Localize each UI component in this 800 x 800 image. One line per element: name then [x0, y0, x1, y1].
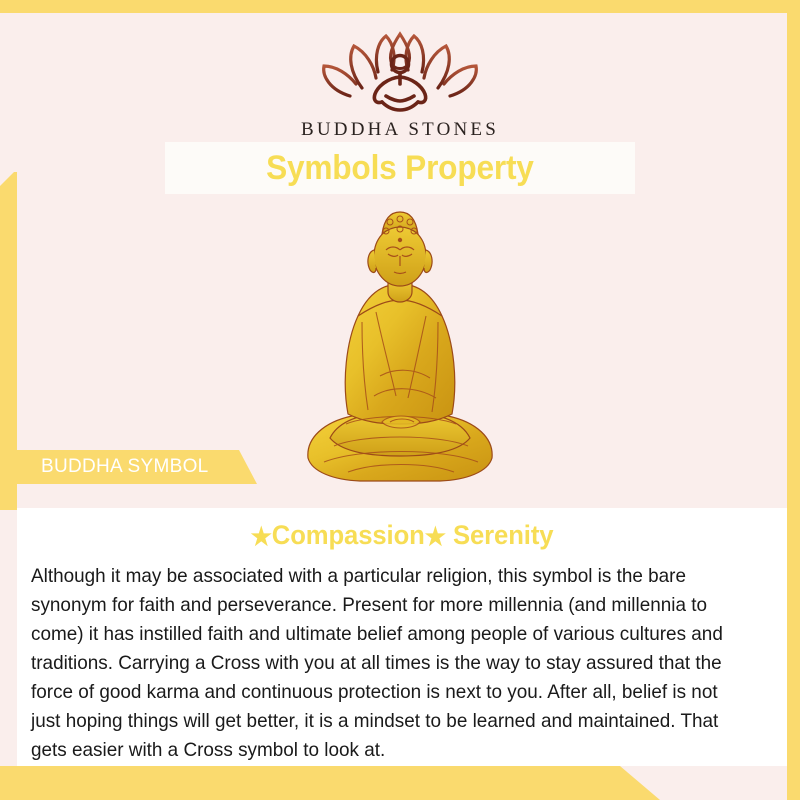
headline-word-compassion: Compassion	[272, 520, 425, 550]
symbol-category-tag: BUDDHA SYMBOL	[17, 450, 257, 484]
symbol-category-label: BUDDHA SYMBOL	[17, 456, 209, 478]
content-panel: ★Compassion★ Serenity Although it may be…	[17, 508, 787, 766]
content-paragraph: Although it may be associated with a par…	[31, 562, 751, 765]
page-title: Symbols Property	[266, 149, 534, 188]
headline-word-serenity: Serenity	[453, 520, 553, 550]
frame-top-band	[0, 0, 800, 13]
poster-page: BUDDHA STONES Symbols Property	[0, 0, 800, 800]
frame-bottom-accent-band	[0, 766, 660, 800]
star-icon-1: ★	[251, 523, 272, 551]
buddha-statue-illustration	[290, 200, 510, 505]
brand-name: BUDDHA STONES	[0, 119, 800, 141]
content-headline: ★Compassion★ Serenity	[36, 520, 768, 552]
title-banner: Symbols Property	[165, 142, 635, 194]
lotus-meditation-figure-icon	[0, 22, 800, 117]
star-icon-2: ★	[425, 523, 446, 551]
brand-logo: BUDDHA STONES	[0, 22, 800, 141]
